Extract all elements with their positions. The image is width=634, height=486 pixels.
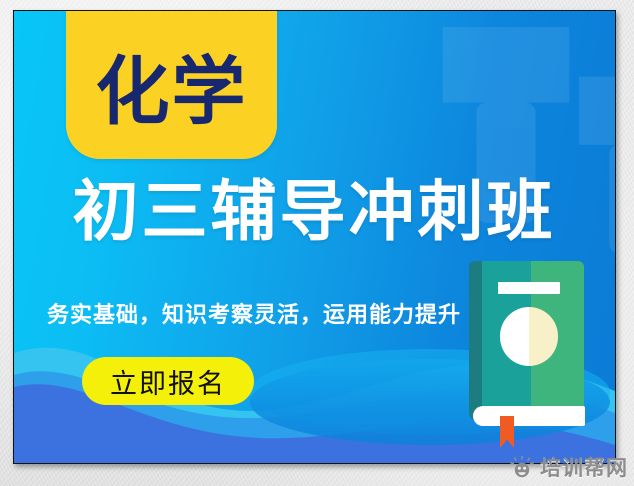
- sun-face-icon: [510, 456, 534, 478]
- book-pages: [473, 406, 585, 426]
- watermark-label: 培训帮网: [540, 452, 628, 482]
- promo-banner-card: 化学 初三辅导冲刺班 务实基础，知识考察灵活，运用能力提升 立即报名: [13, 10, 616, 464]
- subject-badge-label: 化学: [96, 55, 248, 159]
- page-subtitle: 务实基础，知识考察灵活，运用能力提升: [29, 297, 479, 329]
- page-title: 初三辅导冲刺班: [31, 177, 597, 246]
- enroll-now-label: 立即报名: [110, 362, 226, 401]
- book-icon: [469, 261, 587, 436]
- enroll-now-button[interactable]: 立即报名: [82, 357, 254, 405]
- subject-badge: 化学: [66, 10, 277, 159]
- watermark: 培训帮网: [506, 450, 632, 484]
- book-title-bar: [498, 282, 560, 294]
